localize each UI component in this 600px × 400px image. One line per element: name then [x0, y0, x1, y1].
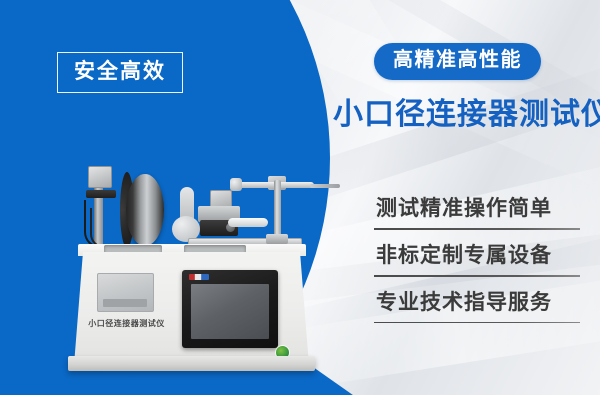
machine-sample-tube [228, 218, 268, 227]
product-banner: 安全高效 小口径连接器测试仪 [0, 0, 600, 400]
machine-fixture-stage [196, 190, 240, 244]
page-title: 小口径连接器测试仪 [333, 97, 600, 133]
feature-label: 非标定制专属设备 [374, 243, 586, 269]
machine-post-head [88, 166, 112, 188]
feature-label: 测试精准操作简单 [374, 196, 586, 222]
feature-list: 测试精准操作简单 非标定制专属设备 专业技术指导服务 [374, 196, 586, 336]
feature-label: 专业技术指导服务 [374, 290, 586, 316]
feature-divider [374, 322, 580, 324]
machine-wheel [126, 174, 164, 246]
highlight-pill-badge: 高精准高性能 [374, 43, 541, 80]
list-item: 测试精准操作简单 [374, 196, 586, 230]
list-item: 非标定制专属设备 [374, 243, 586, 277]
feature-divider [374, 228, 580, 230]
list-item: 专业技术指导服务 [374, 290, 586, 324]
lever-probe-tip [310, 184, 340, 188]
lever-handle-knob [230, 178, 242, 191]
product-machine-illustration: 小口径连接器测试仪 [60, 160, 325, 385]
screen-glass [191, 284, 269, 339]
bottom-edge-strip [0, 395, 600, 400]
touch-panel-display [182, 270, 278, 348]
left-tagline-badge: 安全高效 [57, 52, 183, 93]
lever-vertical-arm [274, 180, 281, 242]
machine-post-arm [86, 190, 116, 198]
screen-brand-logo-icon [189, 274, 209, 280]
feature-divider [374, 275, 580, 277]
machine-base [68, 356, 315, 371]
machine-cable-2 [90, 208, 110, 248]
machine-front-plate [97, 273, 154, 312]
lever-mount-foot [266, 234, 288, 244]
machine-model-label: 小口径连接器测试仪 [74, 318, 179, 329]
